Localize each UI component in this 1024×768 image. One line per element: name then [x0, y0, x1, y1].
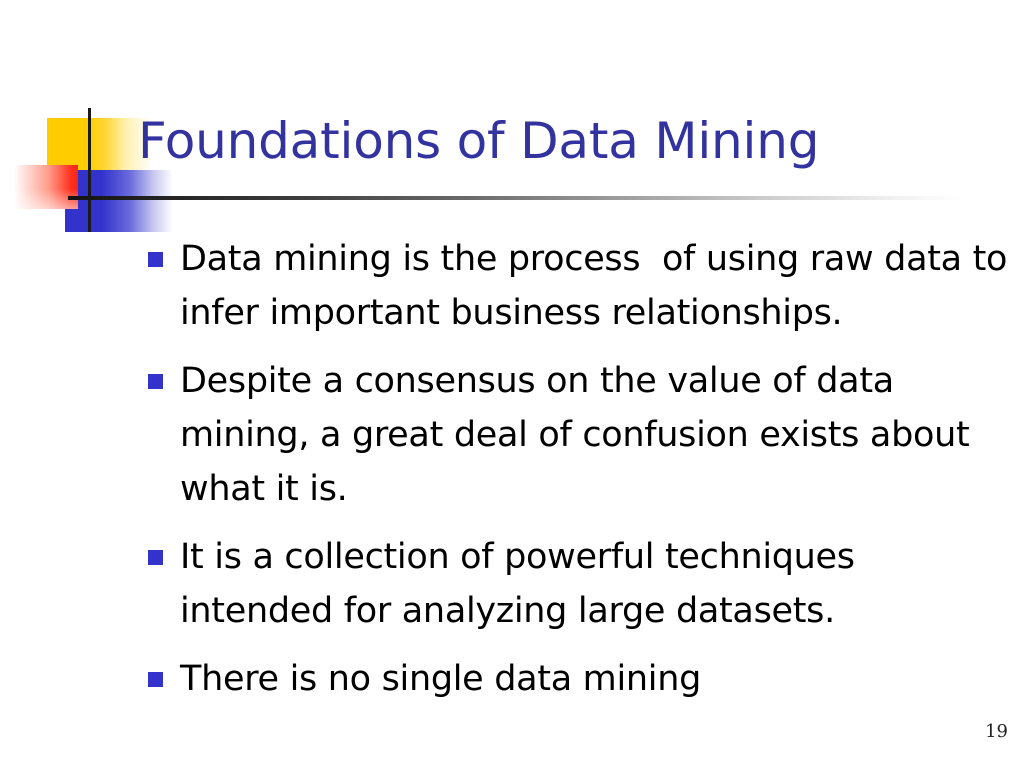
- list-item-text: Data mining is the process of using raw …: [180, 239, 1018, 333]
- presentation-slide: Foundations of Data Mining Data mining i…: [0, 0, 1024, 768]
- bullet-list: Data mining is the process of using raw …: [140, 232, 1010, 720]
- list-item-text: Despite a consensus on the value of data…: [180, 361, 980, 509]
- list-item: Data mining is the process of using raw …: [140, 232, 1010, 340]
- list-item: Despite a consensus on the value of data…: [140, 354, 1010, 516]
- list-item-text: There is no single data mining: [180, 659, 701, 699]
- slide-page-number: 19: [985, 722, 1008, 742]
- list-item: It is a collection of powerful technique…: [140, 530, 1010, 638]
- blue-square-icon: [65, 170, 173, 232]
- list-item: There is no single data mining: [140, 652, 1010, 706]
- square-bullet-icon: [148, 374, 163, 389]
- page-title: Foundations of Data Mining: [138, 112, 998, 170]
- list-item-text: It is a collection of powerful technique…: [180, 537, 866, 631]
- title-underline-rule: [68, 196, 963, 200]
- yellow-square-icon: [47, 118, 152, 170]
- square-bullet-icon: [148, 672, 163, 687]
- red-square-fade-overlay: [14, 165, 78, 209]
- square-bullet-icon: [148, 550, 163, 565]
- vertical-rule-icon: [88, 108, 91, 232]
- square-bullet-icon: [148, 252, 163, 267]
